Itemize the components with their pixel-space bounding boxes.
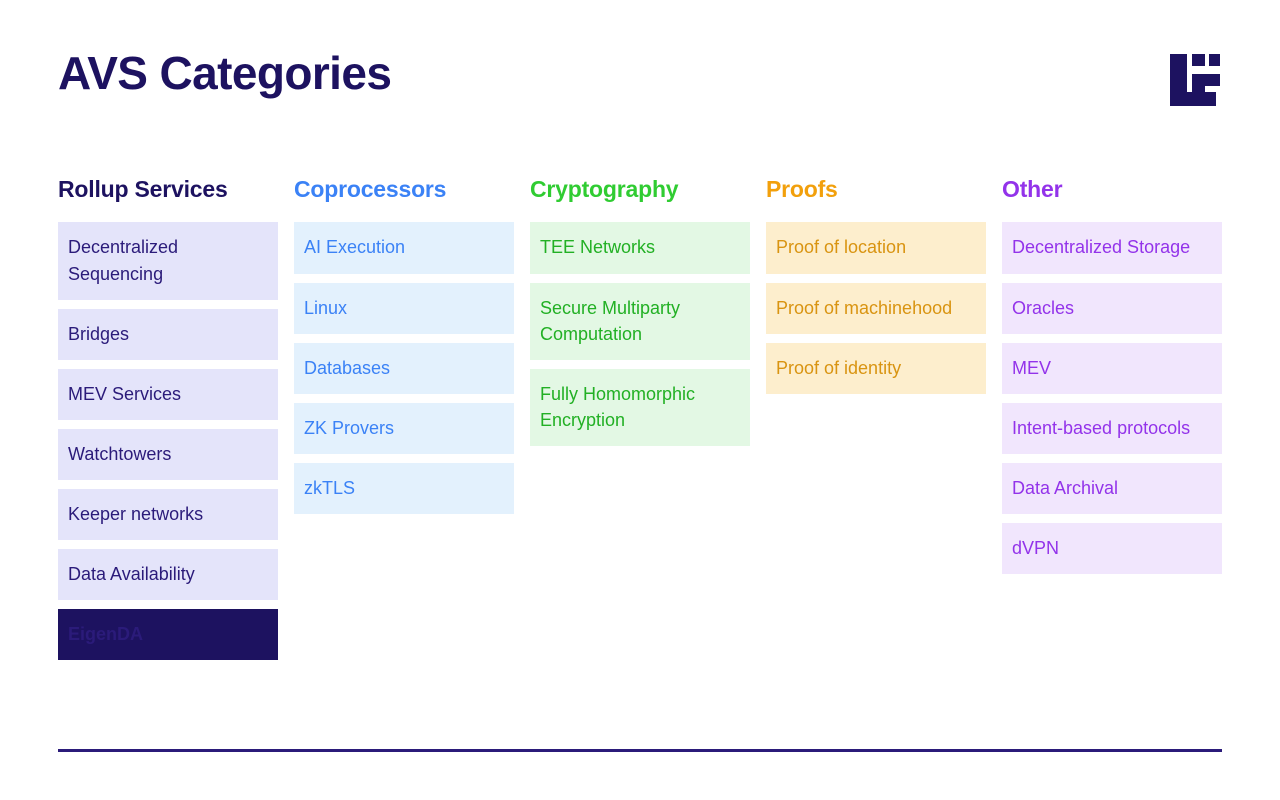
column-title-copro: Coprocessors (294, 176, 514, 202)
category-card-label: dVPN (1012, 535, 1059, 561)
card-list-crypto: TEE NetworksSecure Multiparty Computatio… (530, 222, 750, 445)
category-column-other: OtherDecentralized StorageOraclesMEVInte… (1002, 176, 1222, 574)
category-card[interactable]: AI Execution (294, 222, 514, 273)
category-card[interactable]: Intent-based protocols (1002, 403, 1222, 454)
category-card-label: Proof of location (776, 234, 906, 260)
category-card[interactable]: Fully Homomorphic Encryption (530, 369, 750, 446)
category-card-label: Watchtowers (68, 441, 171, 467)
category-card[interactable]: dVPN (1002, 523, 1222, 574)
category-column-proofs: ProofsProof of locationProof of machineh… (766, 176, 986, 394)
footer-divider (58, 749, 1222, 752)
column-title-rollup: Rollup Services (58, 176, 278, 202)
category-columns: Rollup ServicesDecentralized SequencingB… (58, 176, 1222, 660)
category-card-label: Databases (304, 355, 390, 381)
page-title: AVS Categories (58, 48, 1222, 99)
category-card-label: MEV Services (68, 381, 181, 407)
category-card-label: Proof of identity (776, 355, 901, 381)
column-title-other: Other (1002, 176, 1222, 202)
category-card[interactable]: Oracles (1002, 283, 1222, 334)
category-card[interactable]: Proof of location (766, 222, 986, 273)
category-card[interactable]: Databases (294, 343, 514, 394)
category-card[interactable]: Secure Multiparty Computation (530, 283, 750, 360)
category-card[interactable]: Keeper networks (58, 489, 278, 540)
category-column-crypto: CryptographyTEE NetworksSecure Multipart… (530, 176, 750, 446)
category-card-label: Proof of machinehood (776, 295, 952, 321)
category-card-label: Intent-based protocols (1012, 415, 1190, 441)
category-card[interactable]: zkTLS (294, 463, 514, 514)
category-card-label: MEV (1012, 355, 1051, 381)
category-column-rollup: Rollup ServicesDecentralized SequencingB… (58, 176, 278, 660)
eigenlayer-logo-icon (1170, 54, 1222, 106)
category-card[interactable]: MEV (1002, 343, 1222, 394)
category-card[interactable]: Decentralized Sequencing (58, 222, 278, 299)
category-card[interactable]: Decentralized Storage (1002, 222, 1222, 273)
category-card[interactable]: Bridges (58, 309, 278, 360)
category-card-label: EigenDA (68, 621, 143, 647)
category-card-label: Data Availability (68, 561, 195, 587)
category-card[interactable]: TEE Networks (530, 222, 750, 273)
card-list-proofs: Proof of locationProof of machinehoodPro… (766, 222, 986, 393)
card-list-other: Decentralized StorageOraclesMEVIntent-ba… (1002, 222, 1222, 574)
category-card-label: AI Execution (304, 234, 405, 260)
category-card[interactable]: Linux (294, 283, 514, 334)
category-card-label: Data Archival (1012, 475, 1118, 501)
category-card-label: Decentralized Storage (1012, 234, 1190, 260)
category-card[interactable]: EigenDA (58, 609, 278, 660)
category-card[interactable]: Data Archival (1002, 463, 1222, 514)
category-card[interactable]: MEV Services (58, 369, 278, 420)
slide-header: AVS Categories (58, 48, 1222, 120)
column-title-crypto: Cryptography (530, 176, 750, 202)
category-card[interactable]: Watchtowers (58, 429, 278, 480)
column-title-proofs: Proofs (766, 176, 986, 202)
category-card-label: Fully Homomorphic Encryption (540, 381, 740, 433)
slide-root: AVS Categories Rollup ServicesDecentrali… (0, 0, 1280, 800)
card-list-copro: AI ExecutionLinuxDatabasesZK ProverszkTL… (294, 222, 514, 513)
category-card-label: zkTLS (304, 475, 355, 501)
card-list-rollup: Decentralized SequencingBridgesMEV Servi… (58, 222, 278, 660)
category-card-label: Decentralized Sequencing (68, 234, 268, 286)
category-card[interactable]: Proof of machinehood (766, 283, 986, 334)
category-card[interactable]: ZK Provers (294, 403, 514, 454)
category-card[interactable]: Data Availability (58, 549, 278, 600)
category-card[interactable]: Proof of identity (766, 343, 986, 394)
category-card-label: TEE Networks (540, 234, 655, 260)
category-card-label: Linux (304, 295, 347, 321)
category-card-label: Keeper networks (68, 501, 203, 527)
category-column-copro: CoprocessorsAI ExecutionLinuxDatabasesZK… (294, 176, 514, 514)
category-card-label: Bridges (68, 321, 129, 347)
category-card-label: ZK Provers (304, 415, 394, 441)
category-card-label: Secure Multiparty Computation (540, 295, 740, 347)
category-card-label: Oracles (1012, 295, 1074, 321)
